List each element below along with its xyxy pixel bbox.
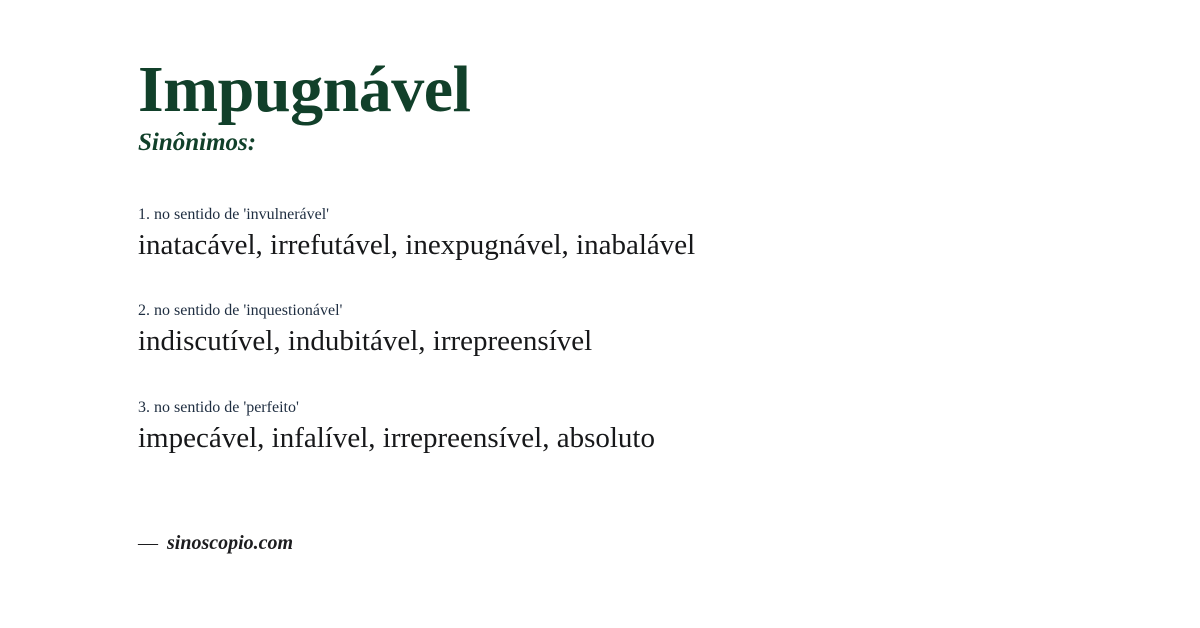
attribution: — sinoscopio.com	[138, 533, 293, 553]
sense-synonyms: indiscutível, indubitável, irrepreensíve…	[138, 324, 1140, 359]
page-title: Impugnável	[138, 56, 1140, 123]
card-header: Impugnável Sinônimos:	[138, 0, 1140, 157]
sense-entry: 2. no sentido de 'inquestionável' indisc…	[138, 301, 1140, 359]
sense-label: 1. no sentido de 'invulnerável'	[138, 205, 1140, 225]
sense-label: 2. no sentido de 'inquestionável'	[138, 301, 1140, 321]
synonym-card: Impugnável Sinônimos: 1. no sentido de '…	[0, 0, 1200, 628]
sense-label: 3. no sentido de 'perfeito'	[138, 398, 1140, 418]
sense-entry: 3. no sentido de 'perfeito' impecável, i…	[138, 398, 1140, 456]
sense-synonyms: impecável, infalível, irrepreensível, ab…	[138, 421, 1140, 456]
senses-list: 1. no sentido de 'invulnerável' inatacáv…	[138, 205, 1140, 456]
sense-synonyms: inatacável, irrefutável, inexpugnável, i…	[138, 228, 1140, 263]
sense-entry: 1. no sentido de 'invulnerável' inatacáv…	[138, 205, 1140, 263]
em-dash-icon: —	[138, 533, 158, 553]
synonyms-subtitle: Sinônimos:	[138, 129, 1140, 157]
source-label: sinoscopio.com	[167, 533, 293, 553]
